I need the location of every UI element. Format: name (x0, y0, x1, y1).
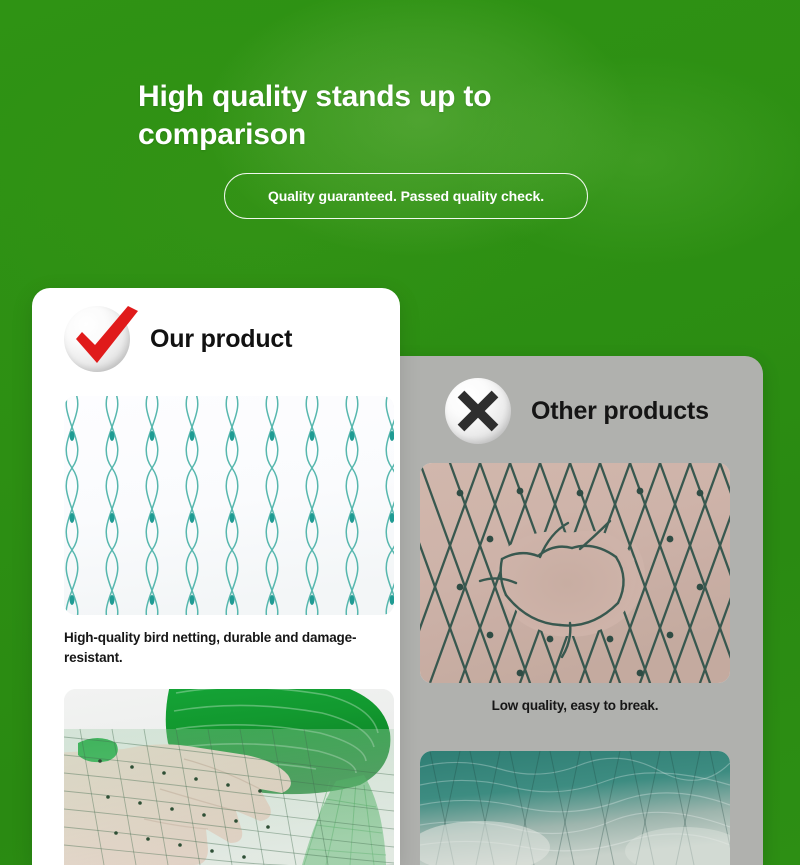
our-product-title: Our product (150, 325, 292, 354)
other-products-card-content: Other products (420, 356, 763, 865)
check-icon (62, 297, 144, 379)
quality-guarantee-badge: Quality guaranteed. Passed quality check… (224, 173, 588, 219)
quality-guarantee-badge-label: Quality guaranteed. Passed quality check… (268, 188, 544, 204)
hand-under-netting-photo (64, 689, 394, 865)
our-product-caption: High-quality bird netting, durable and d… (64, 628, 394, 667)
bird-netting-closeup-photo (64, 396, 394, 615)
promo-banner: High quality stands up to comparison Qua… (0, 0, 800, 865)
our-product-card: Our product (32, 288, 400, 865)
close-icon (454, 387, 502, 435)
black-x-badge (445, 378, 511, 444)
other-products-header: Other products (445, 378, 709, 444)
red-check-badge (64, 306, 130, 372)
page-title: High quality stands up to comparison (138, 78, 568, 154)
other-products-title: Other products (531, 397, 709, 426)
torn-netting-photo (420, 463, 730, 683)
crumpled-netting-photo (420, 751, 730, 865)
our-product-header: Our product (64, 306, 292, 372)
other-products-caption: Low quality, easy to break. (420, 696, 730, 716)
